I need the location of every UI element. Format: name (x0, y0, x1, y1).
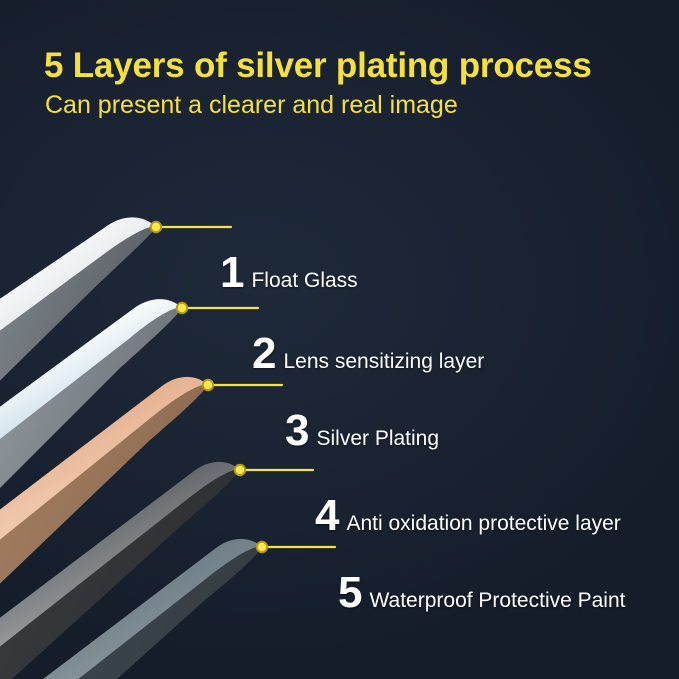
callout-2: 2 Lens sensitizing layer (252, 332, 484, 376)
callout-label-3: Silver Plating (316, 428, 439, 449)
callout-5: 5 Waterproof Protective Paint (338, 571, 625, 615)
leader-dot-4 (235, 465, 245, 475)
callout-1: 1 Float Glass (220, 251, 358, 295)
leader-dot-1 (151, 222, 161, 232)
callout-label-2: Lens sensitizing layer (283, 351, 484, 372)
callout-number-5: 5 (338, 571, 361, 615)
callout-label-4: Anti oxidation protective layer (346, 513, 620, 534)
header-block: 5 Layers of silver plating process Can p… (44, 46, 644, 120)
leader-dot-2 (177, 303, 187, 313)
callout-number-3: 3 (285, 409, 308, 453)
callout-label-1: Float Glass (251, 270, 357, 291)
callout-number-2: 2 (252, 332, 275, 376)
leader-dot-5 (257, 542, 267, 552)
callout-number-1: 1 (220, 251, 243, 295)
leader-dot-3 (203, 380, 213, 390)
callout-3: 3 Silver Plating (285, 409, 439, 453)
callout-4: 4 Anti oxidation protective layer (315, 494, 621, 538)
callout-number-4: 4 (315, 494, 338, 538)
page-subtitle: Can present a clearer and real image (45, 91, 644, 120)
page-title: 5 Layers of silver plating process (44, 46, 644, 85)
callout-label-5: Waterproof Protective Paint (369, 590, 625, 611)
infographic-root: 5 Layers of silver plating process Can p… (0, 0, 679, 679)
